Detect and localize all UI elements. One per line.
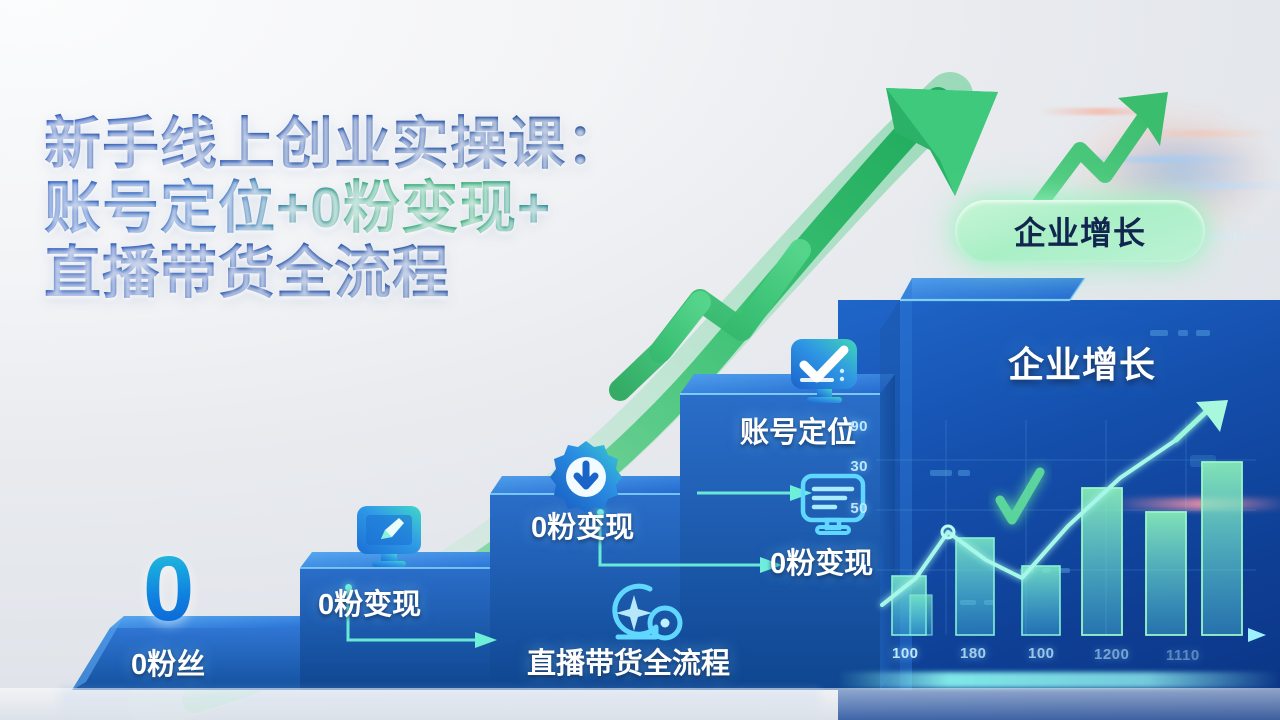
step-2-label: 0粉变现 [318,581,421,623]
promo-banner: 新手线上创业实操课： 账号定位+0粉变现+ 直播带货全流程 [0,0,1280,720]
monitor-check-icon [786,334,862,410]
chart-xtick-0: 100 [892,645,919,662]
title-line-1: 新手线上创业实操课： [44,112,744,176]
growth-chart: 90 30 50 100 180 100 1200 1110 [836,400,1280,700]
status-badge: 企业增长 [955,200,1205,262]
chart-xtick-3: 1200 [1094,646,1129,663]
chart-xtick-1: 180 [960,645,987,662]
page-title: 新手线上创业实操课： 账号定位+0粉变现+ 直播带货全流程 [44,112,744,305]
step-1-label: 0粉丝 [131,641,205,683]
sparkle-lens-icon [600,575,684,651]
chart-xtick-2: 100 [1028,645,1055,662]
floor-shine [0,688,1280,720]
chart-xtick-4: 1110 [1166,647,1200,664]
title-line-2: 账号定位+0粉变现+ [44,176,744,240]
monitor-edit-icon [352,500,426,574]
status-badge-label: 企业增长 [1014,208,1146,254]
step-5-label: 企业增长 [1008,336,1156,388]
chart-ytick-1: 30 [818,458,868,475]
chart-bars [892,462,1242,635]
floor-cyan-glow [838,672,1280,688]
chart-ytick-0: 90 [818,418,868,435]
gear-download-icon [547,438,625,516]
step-1-big-number: 0 [143,543,194,635]
chart-ytick-2: 50 [818,500,868,517]
title-line-3: 直播带货全流程 [44,241,744,305]
